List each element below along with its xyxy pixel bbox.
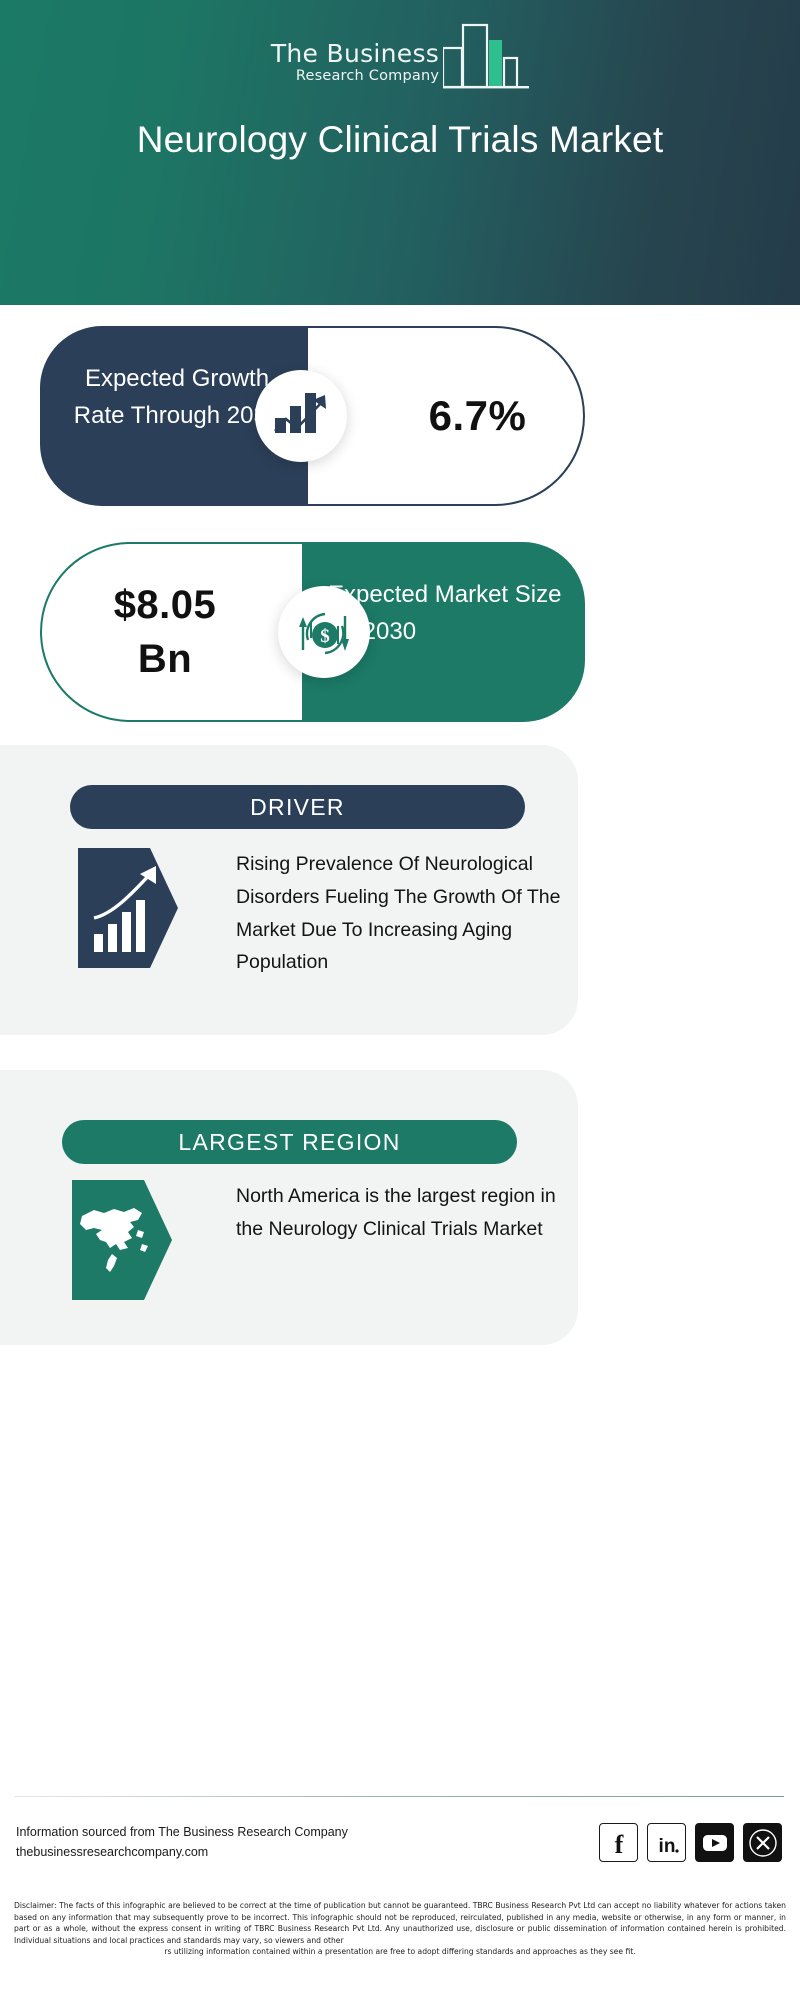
logo-line-2: Research Company	[296, 67, 439, 86]
svg-text:f: f	[614, 1830, 623, 1856]
footer-attribution: Information sourced from The Business Re…	[16, 1822, 348, 1863]
stat-value-market-size: $8.05 Bn	[40, 542, 290, 722]
svg-text:in: in	[658, 1836, 675, 1856]
stat-value-unit: Bn	[138, 632, 192, 686]
dollar-circulation-icon: $	[278, 586, 370, 678]
disclaimer-main: Disclaimer: The facts of this infographi…	[14, 1901, 786, 1945]
linkedin-icon[interactable]: in	[647, 1823, 686, 1862]
stat-card-growth-rate: Expected Growth Rate Through 2030 6.7%	[40, 326, 585, 506]
facebook-icon[interactable]: f	[599, 1823, 638, 1862]
svg-text:$: $	[320, 626, 330, 647]
disclaimer-last-line: rs utilizing information contained withi…	[14, 1946, 786, 1958]
footer-divider	[14, 1796, 784, 1797]
largest-region-pill: LARGEST REGION	[62, 1120, 517, 1164]
disclaimer-text: Disclaimer: The facts of this infographi…	[14, 1900, 786, 1958]
bar-chart-logo-icon	[443, 22, 529, 90]
logo-text: The Business Research Company	[271, 41, 439, 90]
x-twitter-icon[interactable]	[743, 1823, 782, 1862]
logo-line-1: The Business	[271, 41, 439, 67]
footer-attribution-line-1: Information sourced from The Business Re…	[16, 1822, 348, 1842]
youtube-icon[interactable]	[695, 1823, 734, 1862]
header-banner: The Business Research Company Neurology …	[0, 0, 800, 305]
stat-value-amount: $8.05	[114, 578, 217, 632]
stat-card-market-size: $8.05 Bn $ Expected Market Size By 2030	[40, 542, 585, 722]
north-america-map-icon	[72, 1180, 172, 1300]
company-logo: The Business Research Company	[0, 22, 800, 90]
page-title: Neurology Clinical Trials Market	[60, 116, 740, 165]
growth-bars-arrow-icon	[78, 848, 178, 968]
growth-chart-arrow-icon	[255, 370, 347, 462]
social-links: f in	[599, 1823, 782, 1862]
footer-website-link[interactable]: thebusinessresearchcompany.com	[16, 1842, 348, 1862]
largest-region-body-text: North America is the largest region in t…	[236, 1180, 556, 1246]
driver-pill: DRIVER	[70, 785, 525, 829]
stat-value-growth-rate: 6.7%	[370, 326, 585, 506]
driver-body-text: Rising Prevalence Of Neurological Disord…	[236, 848, 566, 979]
